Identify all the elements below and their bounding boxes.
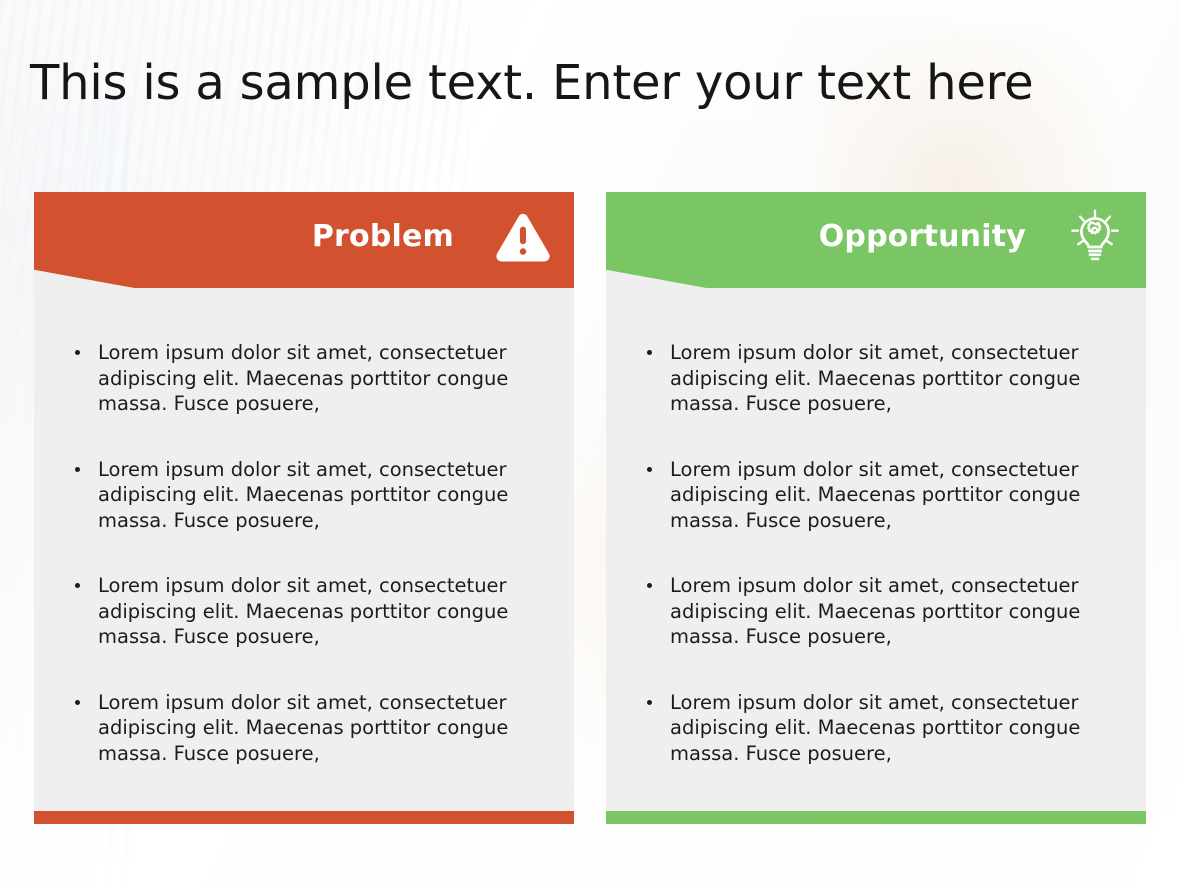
lightbulb-gear-icon xyxy=(1066,208,1124,266)
opportunity-card-footer-bar xyxy=(606,811,1146,824)
opportunity-card-title: Opportunity xyxy=(819,222,1026,252)
list-item: Lorem ipsum dolor sit amet, consectetuer… xyxy=(72,690,512,767)
list-item: Lorem ipsum dolor sit amet, consectetuer… xyxy=(644,457,1084,534)
list-item: Lorem ipsum dolor sit amet, consectetuer… xyxy=(644,690,1084,767)
page-title: This is a sample text. Enter your text h… xyxy=(30,50,1033,116)
problem-bullet-list: Lorem ipsum dolor sit amet, consectetuer… xyxy=(72,340,556,766)
problem-card-header: Problem xyxy=(34,192,574,288)
list-item: Lorem ipsum dolor sit amet, consectetuer… xyxy=(644,573,1084,650)
list-item: Lorem ipsum dolor sit amet, consectetuer… xyxy=(72,573,512,650)
slide-canvas: This is a sample text. Enter your text h… xyxy=(0,0,1180,889)
warning-triangle-icon xyxy=(494,208,552,266)
opportunity-card-header: Opportunity xyxy=(606,192,1146,288)
list-item: Lorem ipsum dolor sit amet, consectetuer… xyxy=(72,457,512,534)
list-item: Lorem ipsum dolor sit amet, consectetuer… xyxy=(72,340,512,417)
problem-card-footer-bar xyxy=(34,811,574,824)
problem-card-title: Problem xyxy=(312,222,454,252)
problem-card: Problem Lorem ipsum dolor sit amet, cons… xyxy=(34,192,574,812)
list-item: Lorem ipsum dolor sit amet, consectetuer… xyxy=(644,340,1084,417)
opportunity-card: Opportunity xyxy=(606,192,1146,812)
opportunity-bullet-list: Lorem ipsum dolor sit amet, consectetuer… xyxy=(644,340,1128,766)
